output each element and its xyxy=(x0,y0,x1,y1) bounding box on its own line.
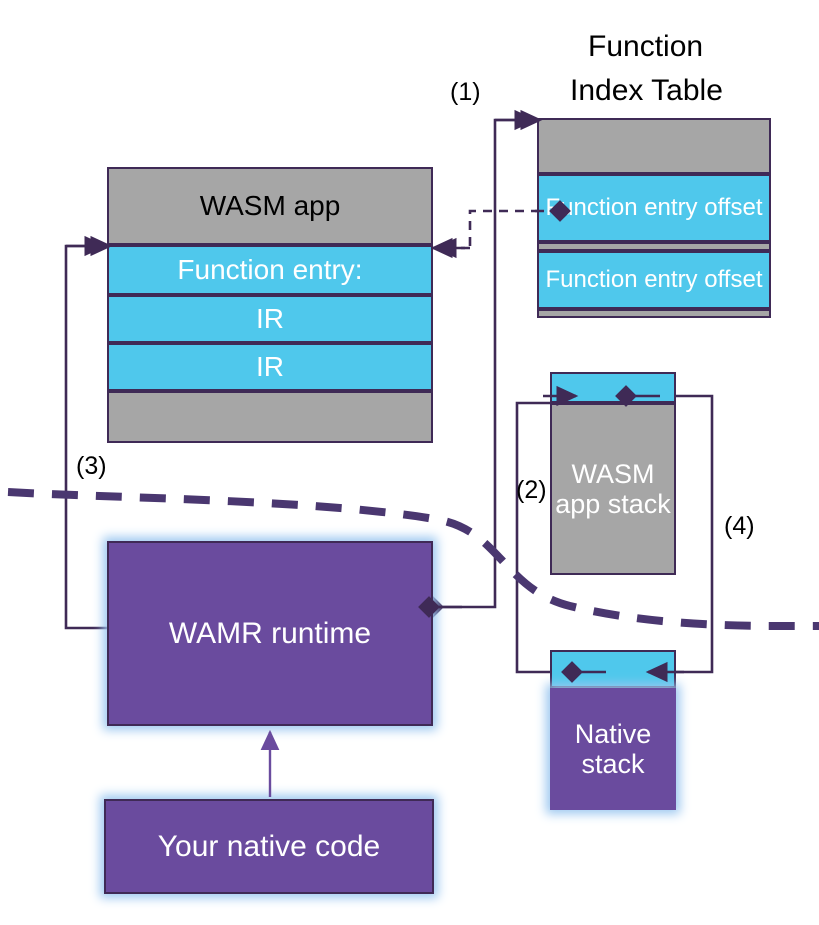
step-3-text: (3) xyxy=(76,452,107,480)
step-label-4: (4) xyxy=(724,512,755,541)
diagram-canvas: WASM app Function entry: IR IR Function … xyxy=(0,0,819,925)
step-2-text: (2) xyxy=(516,476,547,504)
step-label-3: (3) xyxy=(76,452,107,481)
index-table-caption-line1: Function xyxy=(588,30,703,64)
step-4-text: (4) xyxy=(724,512,755,540)
step-label-1: (1) xyxy=(450,78,481,107)
caption-text-1: Function xyxy=(588,30,703,63)
step-1-text: (1) xyxy=(450,78,481,106)
index-table-caption-line2: Index Table xyxy=(570,74,723,108)
connector-layer-over xyxy=(0,0,819,925)
step-label-2: (2) xyxy=(516,476,547,505)
native-boundary-dashed-curve xyxy=(8,492,819,626)
caption-text-2: Index Table xyxy=(570,74,723,107)
